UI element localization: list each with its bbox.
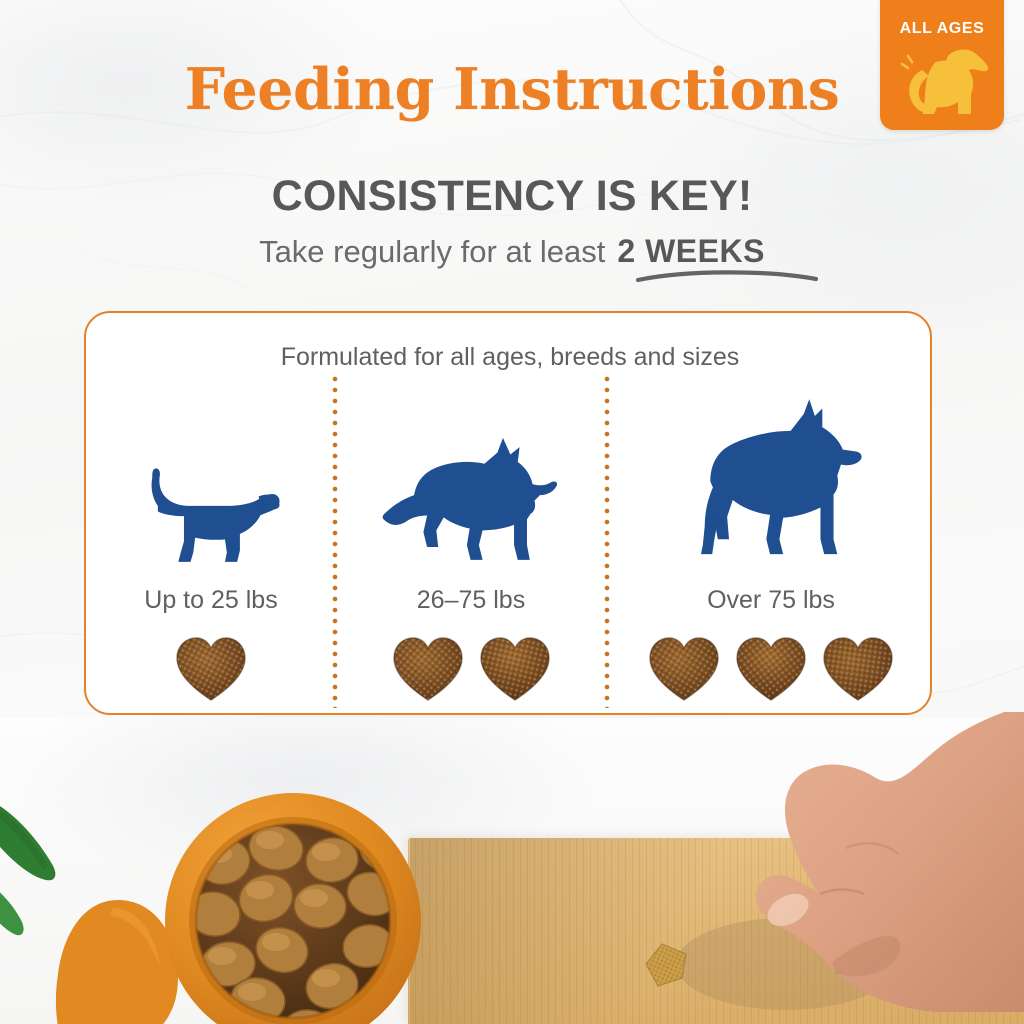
size-label-medium: 26–75 lbs [338,586,604,615]
treat-count-medium [338,633,604,703]
subtitle-consistency: CONSISTENCY IS KEY! [0,172,1024,221]
size-label-large: Over 75 lbs [610,586,932,615]
orange-treat-jar [162,790,424,1024]
heart-kibble-icon [391,633,465,703]
treat-count-large [610,633,932,703]
heart-kibble-icon [478,633,552,703]
heart-kibble-icon [174,633,248,703]
medium-dog-icon [338,434,604,573]
large-dog-icon [610,399,932,573]
heart-kibble-icon [821,633,895,703]
sitting-dog-icon [892,42,992,124]
subline-emphasis: 2 WEEKS [617,233,765,269]
hand-holding-kibble [636,712,1024,1024]
feeding-column-large: Over 75 lbs [610,363,932,713]
feeding-column-small: Up to 25 lbs [90,363,332,713]
all-ages-badge: ALL AGES [880,0,1004,130]
small-dog-icon [90,463,332,573]
subline-container: Take regularly for at least2 WEEKS [0,233,1024,270]
feeding-chart-card: Formulated for all ages, breeds and size… [84,311,932,715]
treat-count-small [90,633,332,703]
subline-text: Take regularly for at least [259,234,605,269]
heart-kibble-icon [734,633,808,703]
feeding-instructions-infographic: Feeding Instructions ALL AGES [0,0,1024,1024]
size-label-small: Up to 25 lbs [90,586,332,615]
underline-swoosh [636,268,818,284]
feeding-column-medium: 26–75 lbs [338,363,604,713]
all-ages-badge-label: ALL AGES [880,20,1004,38]
page-title: Feeding Instructions [0,56,1024,123]
heart-kibble-icon [647,633,721,703]
kibble-pieces [638,938,694,990]
